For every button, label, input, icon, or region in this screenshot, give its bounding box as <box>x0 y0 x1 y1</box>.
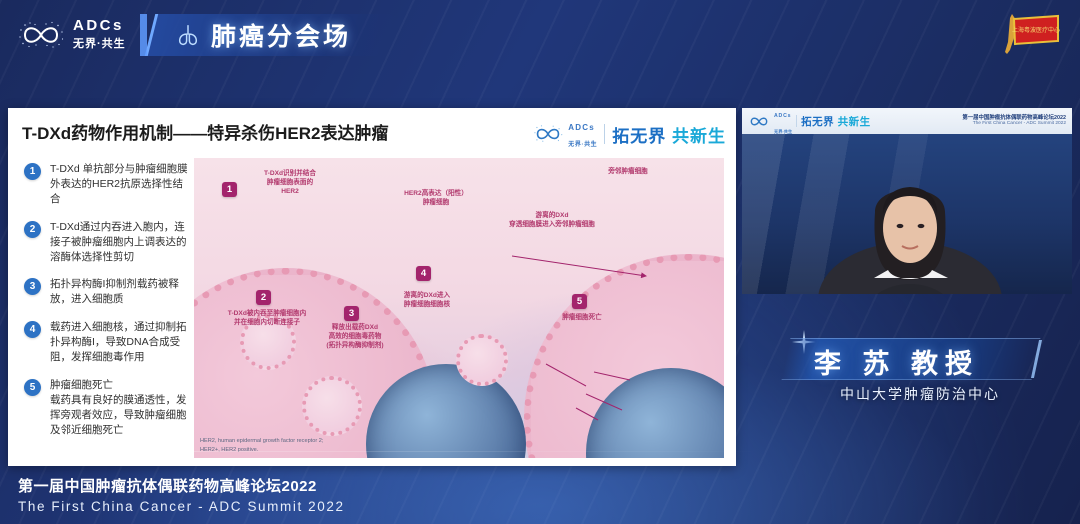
mechanism-step-list: 1 T-DXd 单抗部分与肿瘤细胞膜外表达的HER2抗原选择性结合 2 T-DX… <box>8 154 194 466</box>
video-header-logo: ADCs 无界·共生 拓无界 共新生 <box>748 108 871 137</box>
slide-title: T-DXd药物作用机制——特异杀伤HER2表达肿瘤 <box>22 119 388 144</box>
slide-infinity-logo-icon <box>533 124 563 144</box>
diagram-badge-4: 4 <box>416 266 431 281</box>
step-number: 2 <box>24 221 41 238</box>
infinity-logo-icon <box>18 20 64 50</box>
slide-header: T-DXd药物作用机制——特异杀伤HER2表达肿瘤 ADCs 无界·共生 <box>8 108 736 154</box>
footer-divider <box>18 451 758 452</box>
brand-en-label: ADCs <box>73 17 124 34</box>
diagram-label-bystander: 游离的DXd 穿透细胞膜进入旁邻肿瘤细胞 <box>476 212 628 230</box>
list-item: 2 T-DXd通过内吞进入胞内，连接子被肿瘤细胞内上调表达的溶酶体选择性剪切 <box>24 220 188 265</box>
step-text-secondary: 载药具有良好的膜通透性，发挥旁观者效应，导致肿瘤细胞及邻近细胞死亡 <box>50 393 188 438</box>
slide-logo-cn: 无界·共生 <box>568 142 597 148</box>
event-brand-logo: ADCs 无界·共生 <box>18 18 126 52</box>
step-text: T-DXd 单抗部分与肿瘤细胞膜外表达的HER2抗原选择性结合 <box>50 162 188 207</box>
diagram-badge-5: 5 <box>572 294 587 309</box>
lungs-icon <box>175 23 201 47</box>
speaker-name: 李 苏 教授 <box>814 342 979 381</box>
step-text: T-DXd通过内吞进入胞内，连接子被肿瘤细胞内上调表达的溶酶体选择性剪切 <box>50 220 188 265</box>
speaker-video-panel[interactable]: ADCs 无界·共生 拓无界 共新生 第一届中国肿瘤抗体偶联药物高峰论坛2022… <box>742 108 1072 294</box>
chinese-flag-badge-icon: 上海粤波医疗中心 <box>994 8 1068 60</box>
diagram-badge-3: 3 <box>344 306 359 321</box>
diagram-badge-2: 2 <box>256 290 271 305</box>
presentation-slide[interactable]: T-DXd药物作用机制——特异杀伤HER2表达肿瘤 ADCs 无界·共生 <box>8 108 736 466</box>
session-tag: 肺癌分会场 <box>144 14 395 56</box>
step-number: 5 <box>24 379 41 396</box>
diagram-badge-1: 1 <box>222 182 237 197</box>
svg-text:上海粤波医疗中心: 上海粤波医疗中心 <box>1012 26 1060 34</box>
step-number: 4 <box>24 321 41 338</box>
footer: 第一届中国肿瘤抗体偶联药物高峰论坛2022 The First China Ca… <box>18 475 345 514</box>
diagram-label-1: T-DXd识别并结合 肿瘤细胞表面的 HER2 <box>238 170 342 197</box>
diagram-label-5: 肿瘤细胞死亡 <box>542 314 622 323</box>
list-item: 5 肿瘤细胞死亡 载药具有良好的膜通透性，发挥旁观者效应，导致肿瘤细胞及邻近细胞… <box>24 378 188 438</box>
mechanism-diagram: 1 T-DXd识别并结合 肿瘤细胞表面的 HER2 HER2高表达（阳性） 肿瘤… <box>194 158 724 458</box>
step-text: 肿瘤细胞死亡 载药具有良好的膜通透性，发挥旁观者效应，导致肿瘤细胞及邻近细胞死亡 <box>50 378 188 438</box>
diagram-label-4: 游离的DXd进入 肿瘤细胞细胞核 <box>372 292 482 310</box>
slide-logo-en: ADCs <box>568 123 595 132</box>
slide-slogan-1: 拓无界 <box>612 127 666 146</box>
video-header-title-en: The First China Cancer - ADC Summit 2022 <box>962 121 1066 127</box>
footer-title-en: The First China Cancer - ADC Summit 2022 <box>18 499 345 514</box>
step-number: 3 <box>24 278 41 295</box>
video-infinity-logo-icon <box>748 114 770 129</box>
top-bar: ADCs 无界·共生 肺癌分会场 上海粤波医疗中心 <box>0 0 1080 70</box>
list-item: 3 拓扑异构酶I抑制剂载药被释放，进入细胞质 <box>24 277 188 307</box>
step-text: 载药进入细胞核，通过抑制拓扑异构酶I，导致DNA合成受阻，发挥细胞毒作用 <box>50 320 188 365</box>
video-slogan-1: 拓无界 <box>801 116 834 128</box>
list-item: 4 载药进入细胞核，通过抑制拓扑异构酶I，导致DNA合成受阻，发挥细胞毒作用 <box>24 320 188 365</box>
step-text-main: 肿瘤细胞死亡 <box>50 379 113 391</box>
brand-cn-label: 无界·共生 <box>73 38 126 50</box>
diagram-label-neighbor-cell: 旁邻肿瘤细胞 <box>586 168 670 177</box>
diagram-label-her2-high: HER2高表达（阳性） 肿瘤细胞 <box>380 190 492 208</box>
speaker-figure <box>742 160 1072 294</box>
speaker-organization: 中山大学肿瘤防治中心 <box>840 384 1000 404</box>
step-number: 1 <box>24 163 41 180</box>
video-header-title: 第一届中国肿瘤抗体偶联药物高峰论坛2022 The First China Ca… <box>962 115 1066 127</box>
list-item: 1 T-DXd 单抗部分与肿瘤细胞膜外表达的HER2抗原选择性结合 <box>24 162 188 207</box>
session-tag-edge <box>140 14 147 56</box>
slide-logo: ADCs 无界·共生 拓无界 共新生 <box>533 118 726 151</box>
footer-title-cn: 第一届中国肿瘤抗体偶联药物高峰论坛2022 <box>18 475 345 496</box>
video-logo-cn: 无界·共生 <box>774 129 792 134</box>
step-text: 拓扑异构酶I抑制剂载药被释放，进入细胞质 <box>50 277 188 307</box>
slide-logo-divider <box>604 124 605 144</box>
slide-body: 1 T-DXd 单抗部分与肿瘤细胞膜外表达的HER2抗原选择性结合 2 T-DX… <box>8 154 736 466</box>
session-label: 肺癌分会场 <box>211 17 351 53</box>
video-logo-en: ADCs <box>774 113 791 119</box>
slide-slogan-2: 共新生 <box>672 127 726 146</box>
video-slogan-2: 共新生 <box>838 116 871 128</box>
diagram-label-3: 释放出载药DXd 高效的细胞毒药物 (拓扑异构酶抑制剂) <box>298 324 412 351</box>
video-header-bar: ADCs 无界·共生 拓无界 共新生 第一届中国肿瘤抗体偶联药物高峰论坛2022… <box>742 108 1072 134</box>
speaker-nameplate: 李 苏 教授 中山大学肿瘤防治中心 <box>762 334 1062 418</box>
speaker-webcam-feed <box>742 134 1072 294</box>
video-logo-divider <box>796 115 797 127</box>
